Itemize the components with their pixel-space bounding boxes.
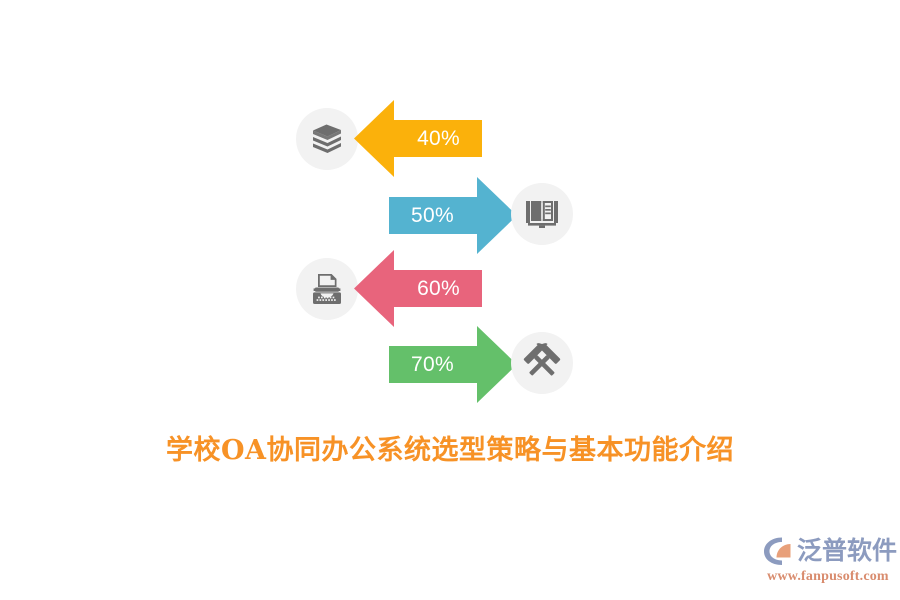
typewriter-icon [296,258,358,320]
open-book-icon [511,183,573,245]
fanpu-logo-mark [762,535,796,567]
arrow-60-percent: 60% [354,250,482,327]
arrow-70-label: 70% [411,326,454,403]
arrow-60-label: 60% [417,250,460,327]
percentage-arrow-diagram: 40% 50% [0,0,900,410]
arrow-50-label: 50% [411,177,454,254]
arrow-70-percent: 70% [389,326,517,403]
arrow-40-percent: 40% [354,100,482,177]
brand-logo: 泛普软件 www.fanpusoft.com [762,534,894,590]
logo-row: 泛普软件 [762,534,894,568]
logo-wordmark: 泛普软件 [797,535,897,567]
arrow-50-percent: 50% [389,177,517,254]
crossed-hammers-icon [511,332,573,394]
arrow-40-label: 40% [417,100,460,177]
logo-url: www.fanpusoft.com [762,569,894,585]
books-stack-icon [296,108,358,170]
infographic-canvas: 40% 50% [0,0,900,600]
page-title: 学校OA协同办公系统选型策略与基本功能介绍 [0,428,900,467]
